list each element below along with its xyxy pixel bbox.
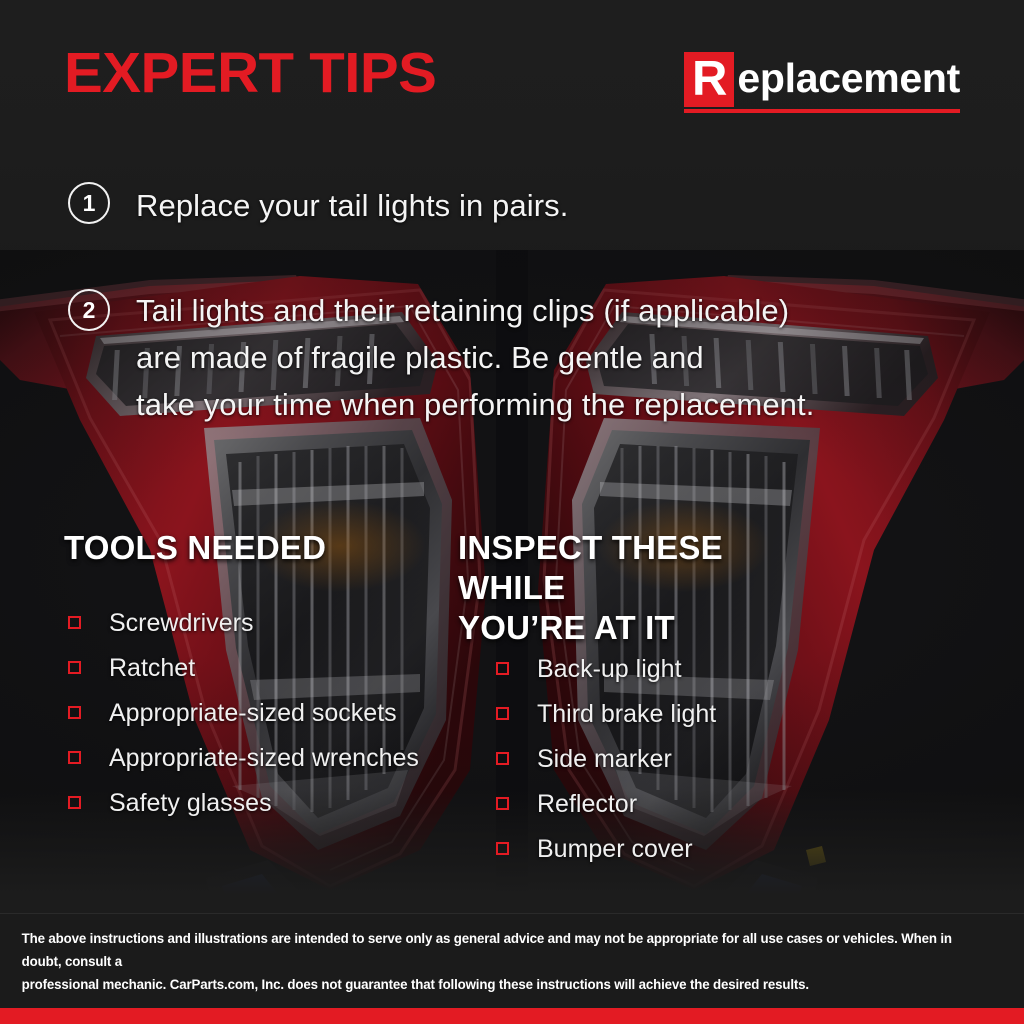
- checkbox-icon[interactable]: [68, 706, 81, 719]
- checkbox-icon[interactable]: [496, 707, 509, 720]
- list-item-label: Side marker: [509, 744, 672, 774]
- list-item-label: Appropriate-sized sockets: [81, 698, 397, 728]
- list-item-label: Bumper cover: [509, 834, 693, 864]
- content-layer: EXPERT TIPS R eplacement 1 Replace your …: [0, 0, 1024, 1024]
- list-item-label: Ratchet: [81, 653, 195, 683]
- brand-logo[interactable]: R eplacement: [684, 52, 960, 114]
- tip-text-2-line-1: Tail lights and their retaining clips (i…: [136, 287, 814, 334]
- tip-text-2-line-3: take your time when performing the repla…: [136, 381, 814, 428]
- list-item-label: Safety glasses: [81, 788, 272, 818]
- list-item[interactable]: Appropriate-sized wrenches: [68, 735, 419, 780]
- footer-accent-bar: [0, 1008, 1024, 1024]
- list-item-label: Screwdrivers: [81, 608, 253, 638]
- infographic-canvas: EXPERT TIPS R eplacement 1 Replace your …: [0, 0, 1024, 1024]
- list-item[interactable]: Screwdrivers: [68, 600, 419, 645]
- checkbox-icon[interactable]: [496, 752, 509, 765]
- checkbox-icon[interactable]: [496, 797, 509, 810]
- tip-text-2-line-2: are made of fragile plastic. Be gentle a…: [136, 334, 814, 381]
- list-item-label: Reflector: [509, 789, 637, 819]
- list-item-label: Third brake light: [509, 699, 716, 729]
- footer: The above instructions and illustrations…: [0, 913, 1024, 1024]
- checkbox-icon[interactable]: [496, 662, 509, 675]
- checkbox-icon[interactable]: [68, 751, 81, 764]
- inspect-these-heading: INSPECT THESE WHILE YOU’RE AT IT: [458, 528, 838, 648]
- list-item[interactable]: Bumper cover: [496, 826, 716, 871]
- list-item[interactable]: Third brake light: [496, 691, 716, 736]
- inspect-these-list: Back-up light Third brake light Side mar…: [496, 646, 716, 871]
- tip-text-2: Tail lights and their retaining clips (i…: [110, 287, 814, 428]
- footer-disclaimer-line-2: professional mechanic. CarParts.com, Inc…: [22, 973, 987, 996]
- tip-text-1: Replace your tail lights in pairs.: [110, 182, 568, 229]
- footer-disclaimer-line-1: The above instructions and illustrations…: [22, 927, 987, 973]
- inspect-heading-line-1: INSPECT THESE WHILE: [458, 528, 838, 608]
- tools-needed-list: Screwdrivers Ratchet Appropriate-sized s…: [68, 600, 419, 825]
- list-item[interactable]: Back-up light: [496, 646, 716, 691]
- brand-logo-initial: R: [684, 52, 734, 107]
- tip-item-2: 2 Tail lights and their retaining clips …: [68, 287, 814, 428]
- tip-number-badge-1: 1: [68, 182, 110, 224]
- footer-disclaimer: The above instructions and illustrations…: [0, 913, 1009, 1008]
- list-item-label: Back-up light: [509, 654, 682, 684]
- list-item[interactable]: Side marker: [496, 736, 716, 781]
- checkbox-icon[interactable]: [68, 661, 81, 674]
- list-item[interactable]: Ratchet: [68, 645, 419, 690]
- checkbox-icon[interactable]: [68, 616, 81, 629]
- list-item[interactable]: Safety glasses: [68, 780, 419, 825]
- checkbox-icon[interactable]: [496, 842, 509, 855]
- tools-needed-heading: TOOLS NEEDED: [64, 528, 326, 568]
- tip-item-1: 1 Replace your tail lights in pairs.: [68, 182, 568, 229]
- inspect-heading-line-2: YOU’RE AT IT: [458, 608, 838, 648]
- brand-logo-rest: eplacement: [734, 52, 960, 107]
- brand-logo-underline: [684, 109, 960, 113]
- page-title: EXPERT TIPS: [64, 45, 436, 102]
- list-item[interactable]: Reflector: [496, 781, 716, 826]
- list-item[interactable]: Appropriate-sized sockets: [68, 690, 419, 735]
- list-item-label: Appropriate-sized wrenches: [81, 743, 419, 773]
- checkbox-icon[interactable]: [68, 796, 81, 809]
- tip-number-badge-2: 2: [68, 289, 110, 331]
- brand-logo-wordmark: R eplacement: [684, 52, 960, 107]
